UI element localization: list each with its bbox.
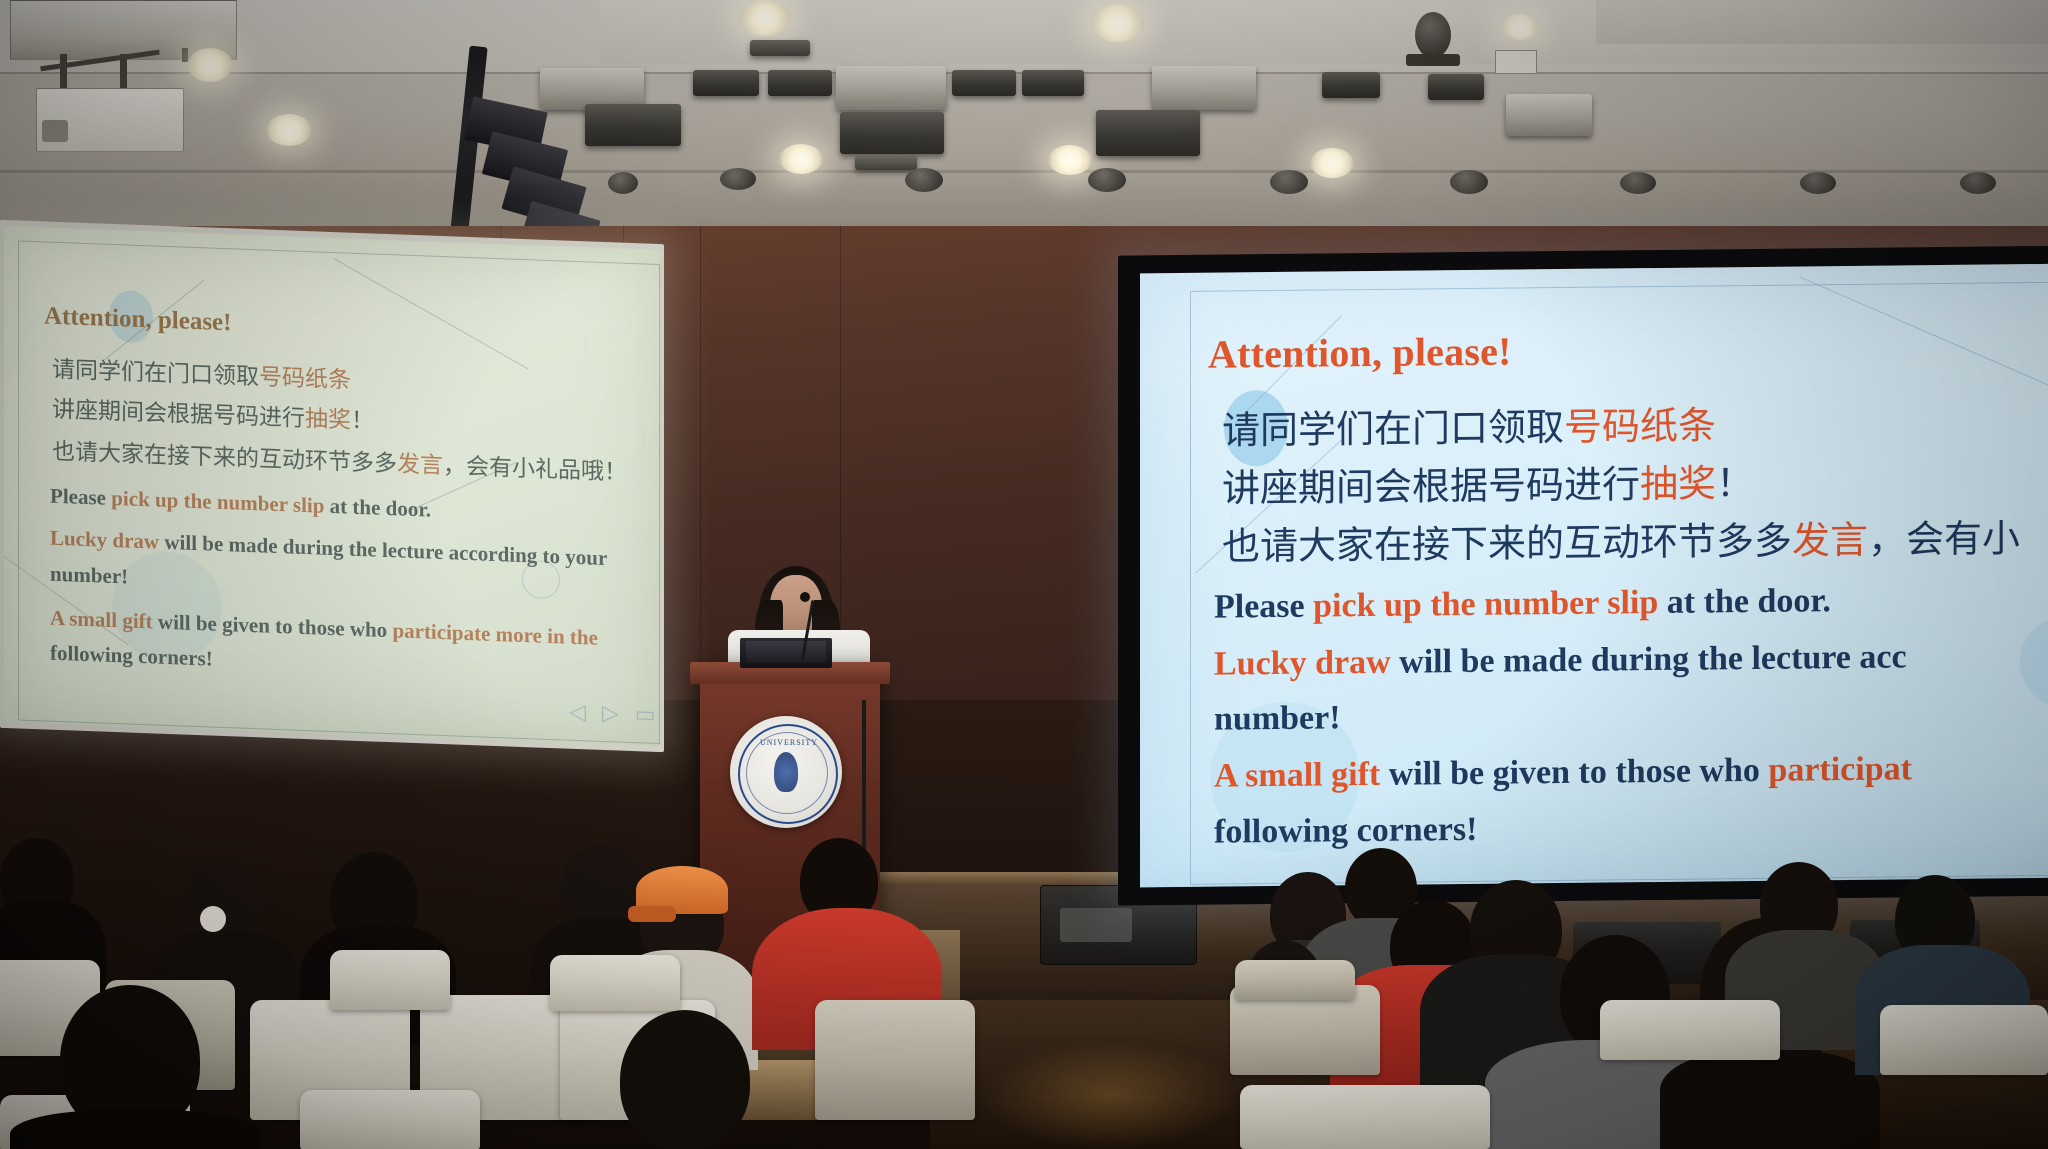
slide-text: at the door. [1658, 582, 1831, 621]
slide-text: Please [50, 484, 111, 510]
slide-text: ！ [351, 408, 374, 434]
slide-text: ，会有小 [1868, 518, 2020, 562]
spot-fixture [952, 70, 1016, 96]
seat [815, 1000, 975, 1120]
security-camera-icon [1415, 12, 1451, 58]
left-slide-nav[interactable]: ◁ ▷ ▭ [569, 699, 656, 728]
downlight [1310, 148, 1354, 178]
microphone-head [800, 592, 810, 602]
ceiling-spot [1620, 172, 1656, 194]
seat [330, 950, 450, 1010]
ceiling-spot [720, 168, 756, 190]
slide-text: number! [50, 562, 128, 589]
downlight [739, 0, 791, 36]
ceiling-vent [855, 156, 917, 170]
slide-text: Please [1214, 588, 1313, 626]
downlight [1500, 14, 1540, 40]
ceiling-camera-small [608, 172, 638, 194]
highlighted-text: A small gift [1214, 756, 1380, 795]
audience-head [620, 1010, 750, 1149]
ceiling-right-strip [1596, 0, 2048, 44]
slide-text: at the door. [324, 494, 431, 522]
ceiling-spot [1088, 168, 1126, 192]
downlight [187, 48, 233, 82]
ceiling-seam-lower [0, 170, 2048, 173]
camera-mount [1406, 54, 1460, 66]
main-screen-frame: Attention, please! 请同学们在门口领取号码纸条 讲座期间会根据… [1118, 244, 2048, 905]
prev-slide-icon[interactable]: ◁ [569, 699, 586, 726]
slide-text: 也请大家在接下来的互动环节多多 [1222, 521, 1792, 569]
hair-clip [200, 906, 226, 932]
slide-text: following corners! [1214, 811, 1477, 851]
seat [1880, 1005, 2048, 1075]
highlighted-text: 号码纸条 [259, 364, 351, 392]
spot-fixture [1428, 74, 1484, 100]
highlighted-text: 发言 [1792, 520, 1868, 563]
main-slide-line-en1: Please pick up the number slip at the do… [1214, 584, 1831, 624]
left-screen-frame: Attention, please! 请同学们在门口领取号码纸条 讲座期间会根据… [0, 220, 664, 752]
audience-body [1660, 1050, 1880, 1149]
ceiling-spot [905, 168, 943, 192]
highlighted-text: 抽奖 [305, 406, 351, 433]
main-slide-line-cn3: 也请大家在接下来的互动环节多多发言，会有小 [1222, 520, 2020, 566]
ceiling-vent [750, 40, 810, 56]
main-slide-line-cn1: 请同学们在门口领取号码纸条 [1222, 407, 1716, 450]
highlighted-text: 发言 [397, 451, 443, 478]
slide-text: will be given to those who [1380, 752, 1768, 793]
laptop-screen [746, 641, 826, 663]
left-slide-line-en3: number! [50, 564, 128, 588]
main-slide-line-en4: A small gift will be given to those who … [1214, 752, 1912, 793]
slide-text: number! [1214, 699, 1341, 737]
spot-fixture [1322, 72, 1380, 98]
equipment-case-panel [1060, 908, 1132, 942]
slide-text: 讲座期间会根据号码进行 [1222, 464, 1640, 510]
slide-text: will be made during the lecture acc [1391, 638, 1907, 680]
spot-fixture [836, 66, 946, 110]
highlighted-text: 号码纸条 [1564, 405, 1716, 449]
spot-fixture [768, 70, 832, 96]
highlighted-text: Lucky draw [50, 526, 159, 554]
slide-text: 请同学们在门口领取 [1222, 407, 1564, 453]
main-slide-line-cn2: 讲座期间会根据号码进行抽奖！ [1222, 465, 1754, 509]
projector-lens [42, 120, 68, 142]
ceiling-spot [1270, 170, 1308, 194]
lecture-hall-photo: Attention, please! 请同学们在门口领取号码纸条 讲座期间会根据… [0, 0, 2048, 1149]
left-slide-line-en5: following corners! [50, 643, 213, 670]
mic-cable [862, 700, 866, 850]
spot-fixture [1506, 94, 1592, 136]
highlighted-text: 抽奖 [1640, 463, 1716, 506]
highlighted-text: participat [1768, 750, 1912, 789]
jacket-print [800, 960, 896, 994]
downlight [1048, 145, 1092, 175]
ceiling-spot [1800, 172, 1836, 194]
downlight [779, 144, 823, 174]
main-slide-line-en3: number! [1214, 701, 1341, 736]
play-slide-icon[interactable]: ▷ [602, 700, 619, 727]
spot-fixture [1096, 110, 1200, 156]
main-slide-line-en2: Lucky draw will be made during the lectu… [1214, 640, 1907, 681]
slide-text: ！ [1716, 463, 1754, 505]
spot-fixture [1152, 66, 1256, 110]
left-screen-surface: Attention, please! 请同学们在门口领取号码纸条 讲座期间会根据… [4, 226, 660, 746]
ceiling-spot [1450, 170, 1488, 194]
main-slide-line-en5: following corners! [1214, 813, 1477, 850]
ceiling-access-panel [1495, 50, 1537, 74]
highlighted-text: Lucky draw [1214, 644, 1391, 683]
seat [1600, 1000, 1780, 1060]
ceiling-spot [1960, 172, 1996, 194]
main-screen-surface: Attention, please! 请同学们在门口领取号码纸条 讲座期间会根据… [1140, 263, 2048, 888]
downlight [266, 114, 312, 146]
seat [1235, 960, 1355, 1000]
highlighted-text: pick up the number slip [1313, 584, 1658, 625]
university-emblem: UNIVERSITY [730, 716, 842, 828]
audience-body [10, 1110, 260, 1149]
stop-slide-icon[interactable]: ▭ [635, 701, 656, 728]
main-slide-heading: Attention, please! [1208, 332, 1512, 375]
seat [1240, 1085, 1490, 1149]
spot-fixture [840, 112, 944, 154]
spot-fixture [693, 70, 759, 96]
emblem-top-text: UNIVERSITY [760, 738, 812, 750]
seat [550, 955, 680, 1011]
highlighted-text: A small gift [50, 606, 153, 634]
spot-fixture [585, 104, 681, 146]
emblem-glyph [774, 752, 798, 792]
cap-brim [628, 906, 676, 922]
downlight [1090, 4, 1144, 42]
seat [300, 1090, 480, 1149]
spot-fixture [1022, 70, 1084, 96]
